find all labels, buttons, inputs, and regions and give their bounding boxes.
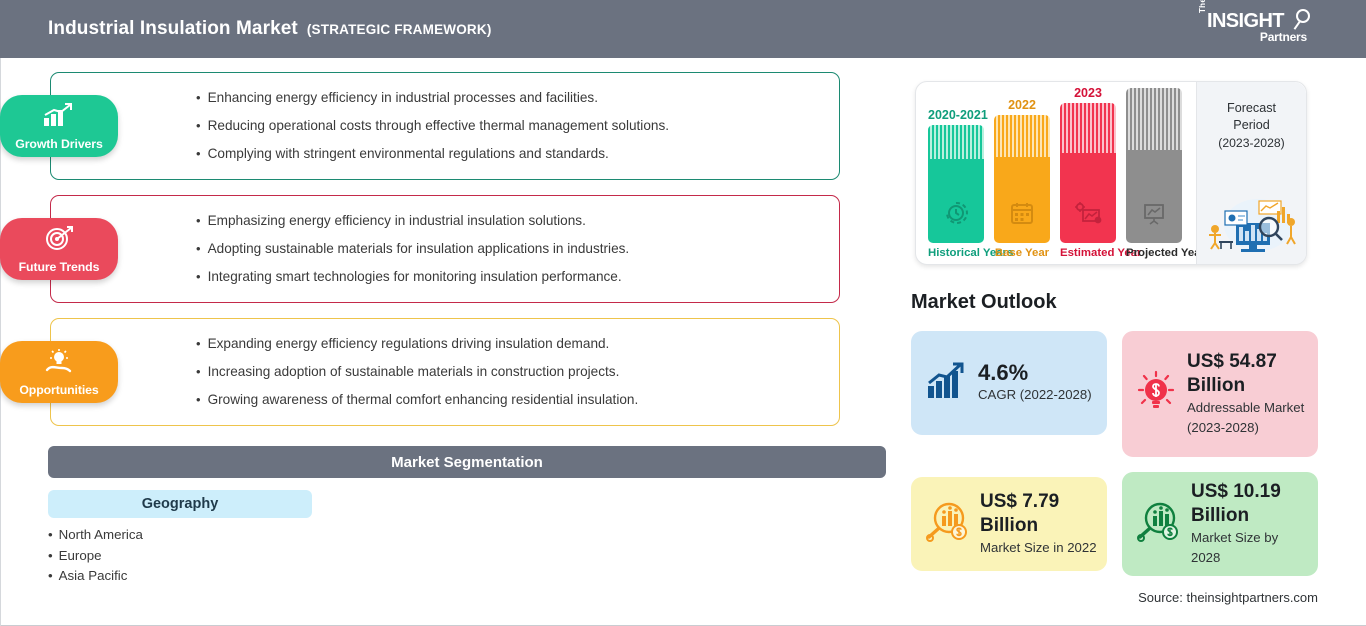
outlook-card-caption: Addressable Market (2023-2028) — [1187, 398, 1310, 438]
outlook-card-value: US$ 10.19 Billion — [1191, 480, 1310, 528]
list-item: •Adopting sustainable materials for insu… — [196, 235, 823, 263]
outlook-card-caption: CAGR (2022-2028) — [978, 385, 1092, 405]
geography-item-label: Europe — [59, 548, 102, 563]
growth-drivers-box: •Enhancing energy efficiency in industri… — [50, 72, 840, 180]
timeline-col-projected: 2028 Projected Year — [1126, 81, 1182, 260]
bullet-text: Emphasizing energy efficiency in industr… — [208, 213, 586, 228]
list-item: •Expanding energy efficiency regulations… — [196, 330, 823, 358]
outlook-card-market-size-2028[interactable]: US$ 10.19 Billion Market Size by 2028 — [1122, 472, 1318, 576]
forecast-period-panel: Forecast Period (2023-2028) — [1196, 82, 1306, 265]
segment-chip-geography[interactable]: Geography — [48, 490, 312, 518]
badge-label: Future Trends — [19, 260, 100, 274]
timeline-bar-caption: Projected Year — [1126, 247, 1182, 261]
magnifier-handle-icon — [1294, 21, 1301, 30]
segment-chip-label: Geography — [142, 496, 219, 512]
market-outlook-title: Market Outlook — [911, 291, 1057, 314]
opportunities-box: •Expanding energy efficiency regulations… — [50, 318, 840, 426]
badge-label: Opportunities — [19, 383, 98, 397]
outlook-card-caption: Market Size by 2028 — [1191, 528, 1310, 568]
forecast-gear-chart-icon — [1074, 200, 1102, 231]
list-item: •Increasing adoption of sustainable mate… — [196, 358, 823, 386]
forecast-title-line1: Forecast — [1197, 100, 1306, 117]
target-dart-icon — [42, 225, 76, 256]
future-trends-bullets: •Emphasizing energy efficiency in indust… — [51, 196, 839, 302]
timeline-col-historical: 2020-2021 Historical Years — [928, 108, 984, 261]
clock-history-icon — [943, 200, 969, 231]
business-analytics-illustration — [1203, 189, 1301, 260]
timeline-year-label: 2020-2021 — [928, 108, 984, 122]
bullet-text: Growing awareness of thermal comfort enh… — [208, 392, 639, 407]
bullet-text: Integrating smart technologies for monit… — [208, 269, 622, 284]
list-item: •Asia Pacific — [48, 566, 143, 587]
list-item: •Complying with stringent environmental … — [196, 140, 823, 168]
timeline-bar-caption: Historical Years — [928, 247, 984, 261]
study-timeline-chart: 2020-2021 Historical Years 20 — [915, 81, 1307, 265]
opportunities-bullets: •Expanding energy efficiency regulations… — [51, 319, 839, 425]
dollar-lightbulb-icon — [1136, 370, 1176, 419]
geography-list: •North America •Europe •Asia Pacific — [48, 525, 143, 587]
timeline-col-base: 2022 — [994, 98, 1050, 261]
logo-partners-text: Partners — [1260, 30, 1307, 44]
page-subtitle: (STRATEGIC FRAMEWORK) — [307, 22, 492, 37]
outlook-card-cagr[interactable]: 4.6% CAGR (2022-2028) — [911, 331, 1107, 435]
outlook-card-value: US$ 54.87 Billion — [1187, 350, 1310, 398]
bullet-text: Increasing adoption of sustainable mater… — [208, 364, 620, 379]
logo-the-text: The — [1198, 0, 1207, 13]
outlook-card-text: US$ 54.87 Billion Addressable Market (20… — [1187, 350, 1310, 438]
list-item: •Growing awareness of thermal comfort en… — [196, 386, 823, 414]
timeline-year-label: 2028 — [1126, 81, 1182, 85]
bullet-text: Expanding energy efficiency regulations … — [208, 336, 610, 351]
bullet-text: Enhancing energy efficiency in industria… — [208, 90, 598, 105]
magnifier-bar-dollar-icon — [925, 501, 969, 548]
timeline-bar-caption: Base Year — [994, 247, 1050, 261]
geography-item-label: Asia Pacific — [59, 568, 128, 583]
market-segmentation-label: Market Segmentation — [391, 454, 543, 471]
growth-chart-arrow-icon — [925, 360, 967, 407]
list-item: •Integrating smart technologies for moni… — [196, 263, 823, 291]
outlook-card-text: US$ 10.19 Billion Market Size by 2028 — [1191, 480, 1310, 568]
page-title: Industrial Insulation Market — [48, 18, 298, 40]
magnifier-bar-dollar-icon — [1136, 501, 1180, 548]
timeline-bar-base — [994, 115, 1050, 243]
timeline-col-estimated: 2023 Estimated Year — [1060, 86, 1116, 261]
badge-label: Growth Drivers — [15, 137, 102, 151]
calendar-icon — [1009, 200, 1035, 231]
bar-chart-growth-icon — [42, 102, 76, 133]
timeline-year-label: 2023 — [1060, 86, 1116, 100]
bullet-text: Adopting sustainable materials for insul… — [208, 241, 630, 256]
outlook-card-value: US$ 7.79 Billion — [980, 490, 1099, 538]
timeline-bar-projected — [1126, 88, 1182, 243]
market-segmentation-bar: Market Segmentation — [48, 446, 886, 478]
badge-opportunities[interactable]: Opportunities — [0, 341, 118, 403]
forecast-range: (2023-2028) — [1197, 136, 1306, 150]
badge-future-trends[interactable]: Future Trends — [0, 218, 118, 280]
timeline-year-label: 2022 — [994, 98, 1050, 112]
outlook-card-addressable-market[interactable]: US$ 54.87 Billion Addressable Market (20… — [1122, 331, 1318, 457]
list-item: •Reducing operational costs through effe… — [196, 112, 823, 140]
timeline-bars: 2020-2021 Historical Years 20 — [916, 82, 1194, 265]
badge-growth-drivers[interactable]: Growth Drivers — [0, 95, 118, 157]
geography-item-label: North America — [59, 527, 143, 542]
list-item: •Europe — [48, 546, 143, 567]
page-header: Industrial Insulation Market (STRATEGIC … — [0, 0, 1366, 58]
bullet-text: Complying with stringent environmental r… — [208, 146, 609, 161]
outlook-card-caption: Market Size in 2022 — [980, 538, 1099, 558]
list-item: •Emphasizing energy efficiency in indust… — [196, 207, 823, 235]
timeline-bar-caption: Estimated Year — [1060, 247, 1116, 261]
list-item: •North America — [48, 525, 143, 546]
list-item: •Enhancing energy efficiency in industri… — [196, 84, 823, 112]
hand-lightbulb-icon — [41, 348, 77, 380]
outlook-card-text: 4.6% CAGR (2022-2028) — [978, 361, 1092, 405]
outlook-card-market-size-2022[interactable]: US$ 7.79 Billion Market Size in 2022 — [911, 477, 1107, 571]
timeline-bar-historical — [928, 125, 984, 243]
source-attribution: Source: theinsightpartners.com — [1138, 590, 1318, 605]
growth-drivers-bullets: •Enhancing energy efficiency in industri… — [51, 73, 839, 179]
timeline-bar-estimated — [1060, 103, 1116, 243]
bullet-text: Reducing operational costs through effec… — [208, 118, 669, 133]
presentation-chart-icon — [1141, 200, 1167, 231]
infographic-page: Industrial Insulation Market (STRATEGIC … — [0, 0, 1366, 626]
outlook-card-text: US$ 7.79 Billion Market Size in 2022 — [980, 490, 1099, 558]
future-trends-box: •Emphasizing energy efficiency in indust… — [50, 195, 840, 303]
outlook-card-value: 4.6% — [978, 361, 1092, 385]
forecast-title-line2: Period — [1197, 117, 1306, 134]
insight-partners-logo: The INSIGHT Partners — [1198, 9, 1310, 49]
